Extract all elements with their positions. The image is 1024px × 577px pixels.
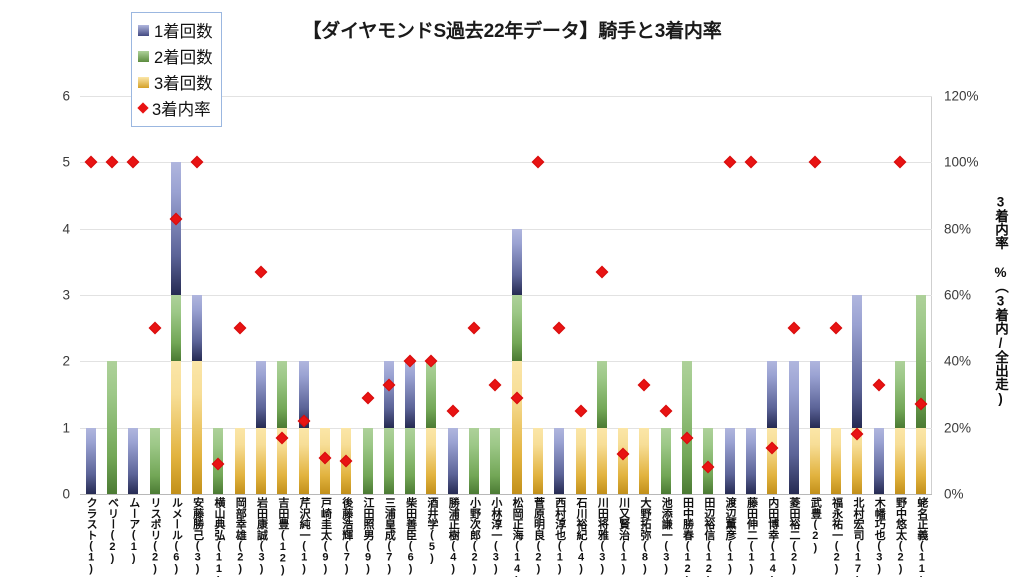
bar-column[interactable] <box>277 361 287 494</box>
x-axis-label: 江田照男(9) <box>362 497 373 575</box>
bar-column[interactable] <box>597 361 607 494</box>
gridline <box>80 295 932 296</box>
gridline <box>80 229 932 230</box>
bar-column[interactable] <box>107 361 117 494</box>
bar-segment <box>171 295 181 361</box>
legend-swatch-gold-icon <box>138 77 149 88</box>
rate-marker[interactable] <box>638 378 651 391</box>
rate-marker[interactable] <box>894 156 907 169</box>
bar-column[interactable] <box>618 428 628 494</box>
legend-label-1chaku: 1着回数 <box>154 18 213 42</box>
bar-segment <box>746 428 756 494</box>
bar-segment <box>810 361 820 427</box>
bar-segment <box>789 361 799 494</box>
y-tick-left: 1 <box>30 420 70 435</box>
legend-label-2chaku: 2着回数 <box>154 44 213 68</box>
x-axis-label: 渡辺薫彦(1) <box>724 497 735 575</box>
y-tick-right: 0% <box>944 487 996 502</box>
bar-segment <box>426 361 436 427</box>
rate-marker[interactable] <box>595 265 608 278</box>
bar-segment <box>192 361 202 494</box>
bar-segment <box>299 428 309 494</box>
gridline <box>80 361 932 362</box>
bar-segment <box>512 295 522 361</box>
bar-segment <box>831 428 841 494</box>
bar-column[interactable] <box>426 361 436 494</box>
x-axis-label: 田辺裕信(12) <box>703 497 714 577</box>
bar-column[interactable] <box>746 428 756 494</box>
x-axis-label: 菅原明良(2) <box>532 497 543 575</box>
bar-segment <box>512 229 522 295</box>
rate-marker[interactable] <box>106 156 119 169</box>
x-axis-label: 西村淳也(1) <box>554 497 565 575</box>
bar-segment <box>256 428 266 494</box>
y-tick-right: 60% <box>944 288 996 303</box>
legend-item-2chaku[interactable]: 2着回数 <box>138 43 213 69</box>
bar-segment <box>576 428 586 494</box>
x-axis-label: 戸崎圭太(9) <box>319 497 330 575</box>
bar-segment <box>150 428 160 494</box>
legend-diamond-red-icon <box>137 102 148 113</box>
x-axis-label: リスポリ(2) <box>149 497 160 575</box>
rate-marker[interactable] <box>830 322 843 335</box>
bar-column[interactable] <box>448 428 458 494</box>
x-axis-label: 松岡正海(14) <box>511 497 522 577</box>
bar-column[interactable] <box>725 428 735 494</box>
x-axis-label: 芹沢純一(1) <box>298 497 309 575</box>
bar-column[interactable] <box>789 361 799 494</box>
rate-marker[interactable] <box>808 156 821 169</box>
x-axis-label: 池添謙一(3) <box>660 497 671 575</box>
x-axis-label: 柴田善臣(6) <box>405 497 416 575</box>
bar-column[interactable] <box>661 428 671 494</box>
bar-segment <box>916 428 926 494</box>
y-tick-left: 5 <box>30 155 70 170</box>
x-axis-label: 藤田伸二(1) <box>745 497 756 575</box>
x-axis-label: 木幡巧也(3) <box>873 497 884 575</box>
rate-marker[interactable] <box>745 156 758 169</box>
gridline <box>80 494 932 495</box>
bar-column[interactable] <box>256 361 266 494</box>
bar-segment <box>384 428 394 494</box>
x-axis-label: 酒井学(5) <box>426 497 437 564</box>
rate-marker[interactable] <box>148 322 161 335</box>
bar-segment <box>852 295 862 428</box>
y-tick-left: 4 <box>30 221 70 236</box>
bar-segment <box>171 361 181 494</box>
bar-column[interactable] <box>682 361 692 494</box>
bar-segment <box>490 428 500 494</box>
x-axis-label: 北村宏司(17) <box>852 497 863 577</box>
rate-marker[interactable] <box>255 265 268 278</box>
bar-segment <box>469 428 479 494</box>
bar-segment <box>597 428 607 494</box>
bar-segment <box>128 428 138 494</box>
bar-column[interactable] <box>405 361 415 494</box>
bar-segment <box>235 428 245 494</box>
x-axis-label: 福永祐一(2) <box>831 497 842 575</box>
bar-segment <box>639 428 649 494</box>
bar-segment <box>767 361 777 427</box>
rate-marker[interactable] <box>723 156 736 169</box>
x-axis-label: 石川裕紀(4) <box>575 497 586 575</box>
legend: 1着回数 2着回数 3着回数 3着内率 <box>131 12 222 127</box>
rate-marker[interactable] <box>84 156 97 169</box>
x-axis-label: 吉田豊(12) <box>277 497 288 576</box>
rate-marker[interactable] <box>127 156 140 169</box>
legend-swatch-blue-icon <box>138 25 149 36</box>
bar-column[interactable] <box>469 428 479 494</box>
bar-column[interactable] <box>895 361 905 494</box>
legend-label-rate: 3着内率 <box>152 96 211 120</box>
x-axis-label: ルメール(6) <box>170 497 181 575</box>
gridline <box>80 428 932 429</box>
x-axis-label: 岡部幸雄(2) <box>234 497 245 575</box>
y-tick-right: 100% <box>944 155 996 170</box>
bar-column[interactable] <box>639 428 649 494</box>
y-tick-left: 6 <box>30 89 70 104</box>
bar-segment <box>597 361 607 427</box>
bar-segment <box>682 361 692 494</box>
bar-segment <box>384 361 394 427</box>
x-axis-label: 蛯名正義(11) <box>916 497 927 577</box>
y-tick-right: 20% <box>944 420 996 435</box>
bar-segment <box>895 361 905 427</box>
y-tick-left: 3 <box>30 288 70 303</box>
legend-swatch-green-icon <box>138 51 149 62</box>
bar-column[interactable] <box>831 428 841 494</box>
bar-segment <box>767 428 777 494</box>
x-axis-label: 安藤勝己(3) <box>192 497 203 575</box>
rate-marker[interactable] <box>872 378 885 391</box>
x-axis-label: 野中悠太(2) <box>895 497 906 575</box>
bar-column[interactable] <box>192 295 202 494</box>
x-axis-label: ムーア(1) <box>128 497 139 564</box>
x-axis-label: 大野拓弥(8) <box>639 497 650 575</box>
bar-segment <box>895 428 905 494</box>
y-tick-right: 40% <box>944 354 996 369</box>
bar-column[interactable] <box>363 428 373 494</box>
bar-segment <box>426 428 436 494</box>
y-tick-left: 2 <box>30 354 70 369</box>
bar-segment <box>405 428 415 494</box>
x-axis-label: クラスト(1) <box>85 497 96 575</box>
x-axis-label: 菱田裕二(2) <box>788 497 799 575</box>
bar-segment <box>533 428 543 494</box>
bar-column[interactable] <box>874 428 884 494</box>
bar-column[interactable] <box>128 428 138 494</box>
bar-segment <box>171 162 181 295</box>
bar-segment <box>725 428 735 494</box>
rate-marker[interactable] <box>191 156 204 169</box>
y-tick-right: 120% <box>944 89 996 104</box>
bar-column[interactable] <box>916 295 926 494</box>
bar-segment <box>256 361 266 427</box>
legend-label-3chaku: 3着回数 <box>154 70 213 94</box>
x-axis-label: 武豊(2) <box>809 497 820 554</box>
x-axis-label: 小野次郎(2) <box>469 497 480 575</box>
bar-column[interactable] <box>533 428 543 494</box>
bar-column[interactable] <box>490 428 500 494</box>
legend-item-3chaku[interactable]: 3着回数 <box>138 69 213 95</box>
rate-marker[interactable] <box>446 405 459 418</box>
legend-item-1chaku[interactable]: 1着回数 <box>138 17 213 43</box>
rate-marker[interactable] <box>553 322 566 335</box>
x-axis-label: 後藤浩輝(7) <box>341 497 352 575</box>
rate-marker[interactable] <box>532 156 545 169</box>
x-axis-label: 三浦皇成(7) <box>383 497 394 575</box>
gridline <box>80 162 932 163</box>
bar-segment <box>86 428 96 494</box>
x-axis-label: 勝浦正樹(4) <box>447 497 458 575</box>
bar-segment <box>448 428 458 494</box>
bar-column[interactable] <box>554 428 564 494</box>
legend-item-rate[interactable]: 3着内率 <box>138 95 213 121</box>
rate-marker[interactable] <box>233 322 246 335</box>
bar-segment <box>874 428 884 494</box>
x-axis-label: 小林淳一(3) <box>490 497 501 575</box>
y-tick-left: 0 <box>30 487 70 502</box>
bar-segment <box>192 295 202 361</box>
x-axis-label: 岩田康誠(3) <box>256 497 267 575</box>
x-axis-labels: クラスト(1)ベリー(2)ムーア(1)リスポリ(2)ルメール(6)安藤勝己(3)… <box>80 497 932 577</box>
x-axis-label: 川又賢治(1) <box>618 497 629 575</box>
y-tick-right: 80% <box>944 221 996 236</box>
rate-marker[interactable] <box>468 322 481 335</box>
rate-marker[interactable] <box>361 391 374 404</box>
rate-marker[interactable] <box>574 405 587 418</box>
chart-container: 【ダイヤモンドS過去22年データ】騎手と3着内率 3着内回数 3着内率 %（3着… <box>0 0 1024 577</box>
bar-segment <box>661 428 671 494</box>
x-axis-label: 川田将雅(3) <box>596 497 607 575</box>
bar-segment <box>107 361 117 494</box>
x-axis-label: ベリー(2) <box>106 497 117 564</box>
x-axis-label: 内田博幸(14) <box>767 497 778 577</box>
bar-segment <box>554 428 564 494</box>
bar-segment <box>277 361 287 427</box>
bar-column[interactable] <box>86 428 96 494</box>
x-axis-label: 田中勝春(12) <box>682 497 693 577</box>
bar-column[interactable] <box>767 361 777 494</box>
bar-column[interactable] <box>150 428 160 494</box>
bar-segment <box>405 361 415 427</box>
rate-marker[interactable] <box>787 322 800 335</box>
rate-marker[interactable] <box>659 405 672 418</box>
rate-marker[interactable] <box>489 378 502 391</box>
bar-column[interactable] <box>810 361 820 494</box>
bar-segment <box>512 361 522 494</box>
plot-area <box>80 96 932 494</box>
bar-segment <box>363 428 373 494</box>
x-axis-label: 横山典弘(11) <box>213 497 224 577</box>
bar-column[interactable] <box>512 229 522 494</box>
bar-column[interactable] <box>852 295 862 494</box>
bar-column[interactable] <box>576 428 586 494</box>
bar-segment <box>618 428 628 494</box>
bar-segment <box>810 428 820 494</box>
bar-column[interactable] <box>235 428 245 494</box>
